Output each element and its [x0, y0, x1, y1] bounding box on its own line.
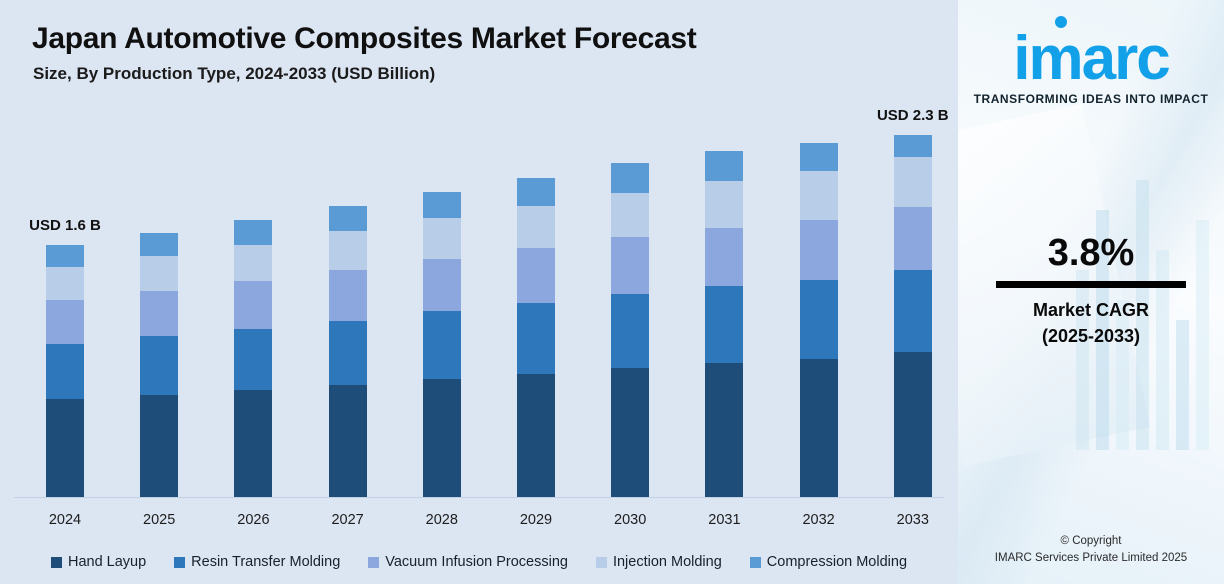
legend-swatch-icon: [368, 557, 379, 568]
bar-segment-resin-transfer-molding: [894, 270, 932, 352]
bar-2028[interactable]: [423, 192, 461, 497]
bar-segment-compression-molding: [234, 220, 272, 245]
cagr-callout: 3.8% Market CAGR (2025-2033): [958, 234, 1224, 347]
bar-segment-vacuum-infusion-processing: [894, 207, 932, 270]
chart-panel: Japan Automotive Composites Market Forec…: [0, 0, 958, 584]
bar-segment-injection-molding: [894, 157, 932, 207]
bar-segment-compression-molding: [46, 245, 84, 267]
x-axis-label-2024: 2024: [30, 512, 100, 528]
legend-label: Vacuum Infusion Processing: [385, 554, 568, 570]
bar-segment-compression-molding: [800, 143, 838, 171]
bar-segment-compression-molding: [705, 151, 743, 181]
bar-segment-resin-transfer-molding: [800, 280, 838, 359]
copyright-line-2: IMARC Services Private Limited 2025: [958, 550, 1224, 567]
bar-segment-compression-molding: [611, 163, 649, 193]
x-axis-label-2031: 2031: [689, 512, 759, 528]
cagr-caption-period: (2025-2033): [958, 326, 1224, 347]
legend-item-hand-layup[interactable]: Hand Layup: [51, 554, 146, 570]
bar-segment-injection-molding: [234, 245, 272, 281]
bar-segment-vacuum-infusion-processing: [800, 220, 838, 280]
bar-segment-hand-layup: [611, 368, 649, 497]
x-axis-label-2030: 2030: [595, 512, 665, 528]
last-bar-value-label: USD 2.3 B: [858, 107, 968, 124]
infographic-root: Japan Automotive Composites Market Forec…: [0, 0, 1224, 584]
legend-swatch-icon: [174, 557, 185, 568]
legend-swatch-icon: [596, 557, 607, 568]
logo-dot-icon: [1055, 16, 1067, 28]
x-axis-label-2028: 2028: [407, 512, 477, 528]
legend-item-compression-molding[interactable]: Compression Molding: [750, 554, 907, 570]
bar-segment-vacuum-infusion-processing: [329, 270, 367, 320]
bar-segment-vacuum-infusion-processing: [423, 259, 461, 311]
bar-segment-resin-transfer-molding: [234, 329, 272, 390]
bar-segment-vacuum-infusion-processing: [517, 248, 555, 303]
x-axis-label-2026: 2026: [218, 512, 288, 528]
bar-segment-resin-transfer-molding: [517, 303, 555, 374]
first-bar-value-label: USD 1.6 B: [10, 217, 120, 234]
bar-2027[interactable]: [329, 206, 367, 497]
bar-segment-hand-layup: [517, 374, 555, 497]
bar-segment-hand-layup: [140, 395, 178, 497]
bar-segment-injection-molding: [517, 206, 555, 248]
bar-2024[interactable]: [46, 245, 84, 497]
legend-item-resin-transfer-molding[interactable]: Resin Transfer Molding: [174, 554, 340, 570]
bar-segment-hand-layup: [800, 359, 838, 498]
bar-segment-compression-molding: [423, 192, 461, 219]
legend-label: Hand Layup: [68, 554, 146, 570]
bar-segment-hand-layup: [423, 379, 461, 497]
bar-segment-injection-molding: [140, 256, 178, 291]
bar-segment-vacuum-infusion-processing: [140, 291, 178, 337]
bar-segment-resin-transfer-molding: [329, 321, 367, 386]
bar-2026[interactable]: [234, 220, 272, 497]
legend-item-injection-molding[interactable]: Injection Molding: [596, 554, 722, 570]
bar-segment-compression-molding: [517, 178, 555, 206]
cagr-divider: [996, 281, 1186, 288]
bar-segment-injection-molding: [705, 181, 743, 228]
x-axis-label-2029: 2029: [501, 512, 571, 528]
chart-legend: Hand LayupResin Transfer MoldingVacuum I…: [0, 548, 958, 576]
bar-segment-vacuum-infusion-processing: [705, 228, 743, 286]
copyright-notice: © Copyright IMARC Services Private Limit…: [958, 533, 1224, 566]
bar-2032[interactable]: [800, 143, 838, 497]
legend-label: Injection Molding: [613, 554, 722, 570]
x-axis-label-2032: 2032: [784, 512, 854, 528]
copyright-line-1: © Copyright: [958, 533, 1224, 550]
bar-segment-hand-layup: [234, 390, 272, 497]
x-axis-label-2033: 2033: [878, 512, 948, 528]
bar-segment-resin-transfer-molding: [611, 294, 649, 368]
cagr-value: 3.8%: [958, 234, 1224, 272]
bar-2030[interactable]: [611, 163, 649, 497]
legend-item-vacuum-infusion-processing[interactable]: Vacuum Infusion Processing: [368, 554, 568, 570]
logo-wordmark: imarc: [958, 28, 1224, 90]
cagr-caption-primary: Market CAGR: [958, 300, 1224, 321]
bar-segment-hand-layup: [705, 363, 743, 497]
x-axis-label-2027: 2027: [313, 512, 383, 528]
legend-label: Compression Molding: [767, 554, 907, 570]
logo-tagline: TRANSFORMING IDEAS INTO IMPACT: [958, 92, 1224, 106]
x-axis-line: [14, 497, 944, 498]
bar-2033[interactable]: [894, 135, 932, 497]
bar-segment-resin-transfer-molding: [140, 336, 178, 394]
bar-segment-resin-transfer-molding: [46, 344, 84, 399]
x-axis-label-2025: 2025: [124, 512, 194, 528]
bar-segment-hand-layup: [46, 399, 84, 497]
bar-segment-injection-molding: [800, 171, 838, 220]
bar-segment-hand-layup: [329, 385, 367, 497]
bar-segment-compression-molding: [329, 206, 367, 231]
bar-2031[interactable]: [705, 151, 743, 497]
bar-segment-injection-molding: [329, 231, 367, 270]
bar-segment-injection-molding: [423, 218, 461, 259]
bar-segment-resin-transfer-molding: [705, 286, 743, 363]
bar-2025[interactable]: [140, 233, 178, 497]
legend-label: Resin Transfer Molding: [191, 554, 340, 570]
bar-segment-injection-molding: [611, 193, 649, 237]
stacked-bar-chart: 2024USD 1.6 B202520262027202820292030203…: [0, 0, 958, 584]
bar-segment-resin-transfer-molding: [423, 311, 461, 379]
bar-segment-compression-molding: [894, 135, 932, 157]
bar-segment-vacuum-infusion-processing: [46, 300, 84, 344]
legend-swatch-icon: [51, 557, 62, 568]
bar-2029[interactable]: [517, 178, 555, 497]
bar-segment-compression-molding: [140, 233, 178, 257]
brand-panel: imarc TRANSFORMING IDEAS INTO IMPACT 3.8…: [958, 0, 1224, 584]
legend-swatch-icon: [750, 557, 761, 568]
bar-segment-injection-molding: [46, 267, 84, 300]
bar-segment-vacuum-infusion-processing: [611, 237, 649, 294]
bar-segment-vacuum-infusion-processing: [234, 281, 272, 328]
bar-segment-hand-layup: [894, 352, 932, 497]
imarc-logo: imarc TRANSFORMING IDEAS INTO IMPACT: [958, 16, 1224, 106]
